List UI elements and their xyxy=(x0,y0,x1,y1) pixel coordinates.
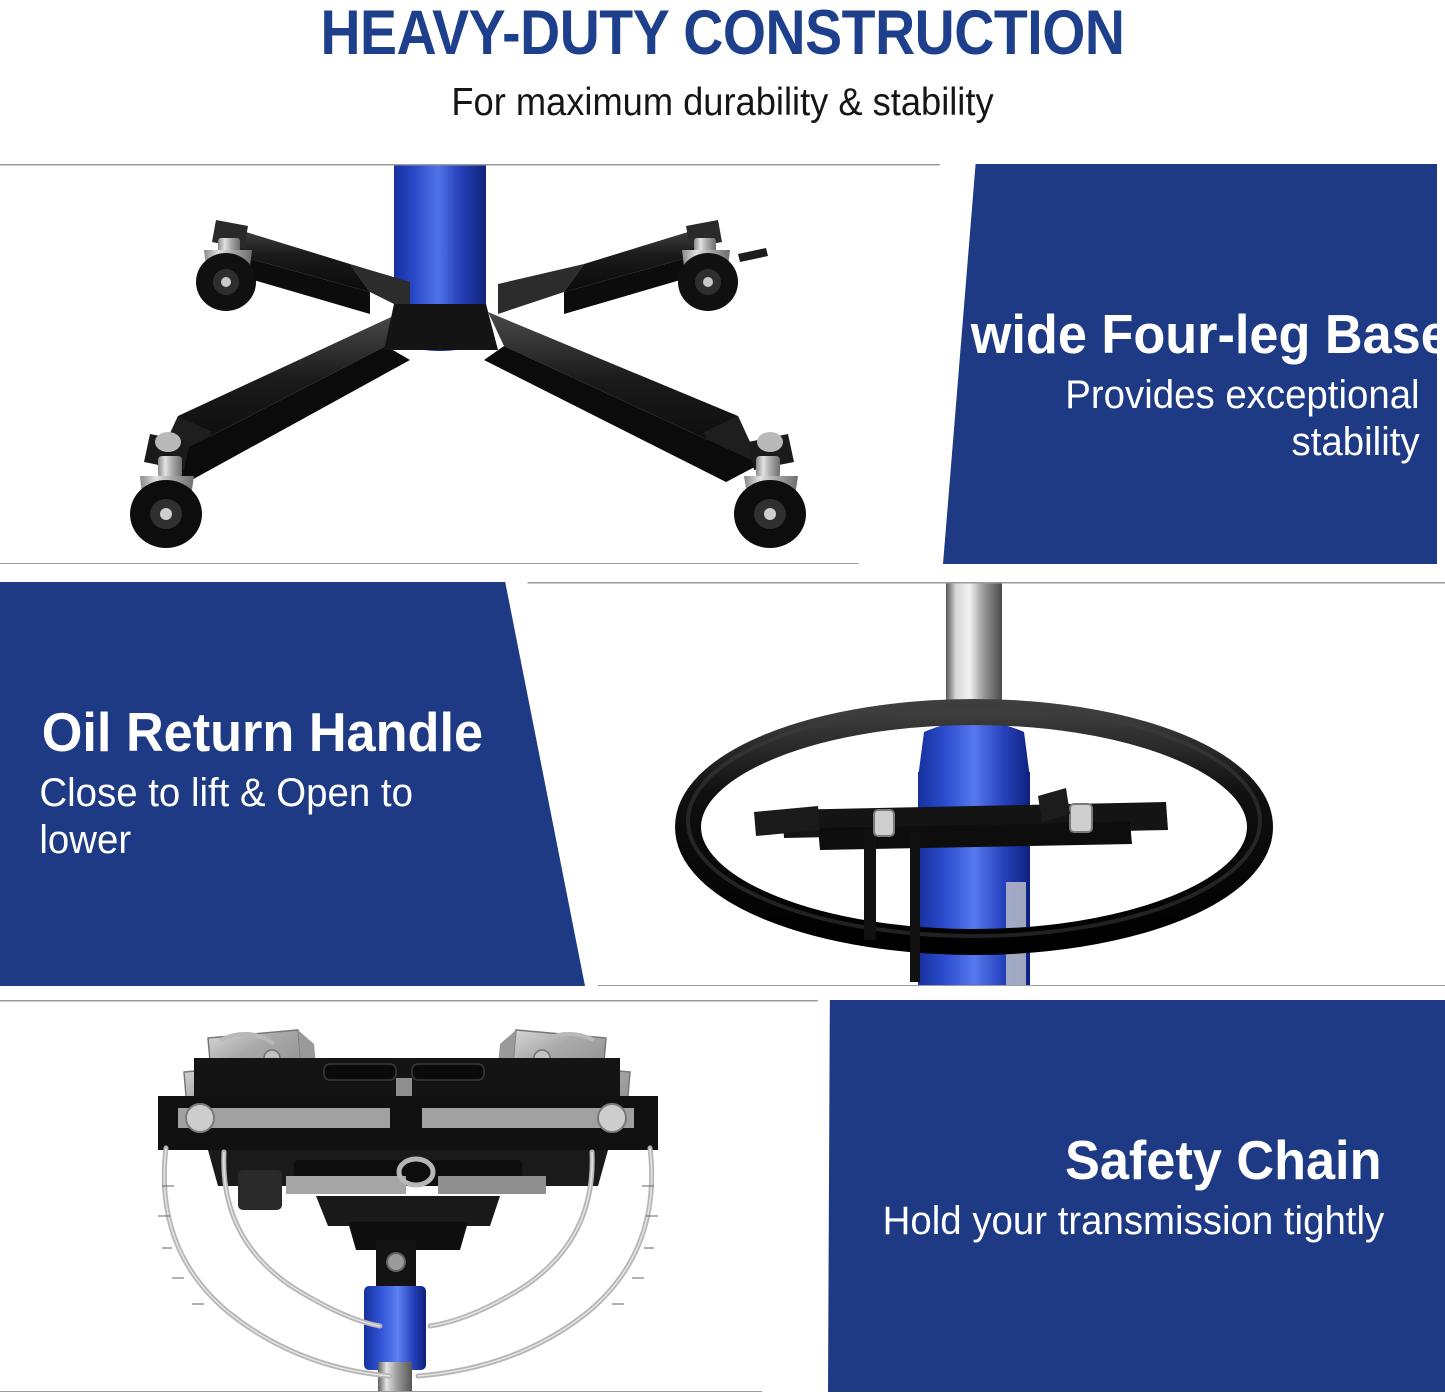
feature-caption-base: wide Four-leg Base Provides exceptional … xyxy=(943,164,1437,564)
oil-return-handle-photo xyxy=(518,582,1445,986)
feature-heading-base: wide Four-leg Base xyxy=(971,304,1418,364)
feature-description-safety-chain: Hold your transmission tightly xyxy=(866,1198,1384,1245)
page-title: HEAVY-DUTY CONSTRUCTION xyxy=(87,0,1359,68)
four-leg-base-photo xyxy=(0,164,940,564)
page-subtitle: For maximum durability & stability xyxy=(51,80,1395,126)
feature-description-base: Provides exceptional stability xyxy=(968,372,1419,466)
header-banner: HEAVY-DUTY CONSTRUCTION For maximum dura… xyxy=(0,0,1445,160)
feature-caption-oil-return: Oil Return Handle Close to lift & Open t… xyxy=(0,582,600,986)
feature-row-oil-return: Oil Return Handle Close to lift & Open t… xyxy=(0,582,1445,986)
safety-chain-photo xyxy=(0,1000,818,1392)
feature-heading-oil-return: Oil Return Handle xyxy=(42,702,489,762)
panel-border xyxy=(518,582,1445,986)
feature-row-base: wide Four-leg Base Provides exceptional … xyxy=(0,164,1445,564)
feature-heading-safety-chain: Safety Chain xyxy=(869,1130,1382,1190)
panel-border xyxy=(0,164,940,564)
feature-row-safety-chain: Safety Chain Hold your transmission tigh… xyxy=(0,1000,1445,1392)
feature-description-oil-return: Close to lift & Open to lower xyxy=(39,770,490,864)
feature-caption-safety-chain: Safety Chain Hold your transmission tigh… xyxy=(828,1000,1445,1392)
panel-border xyxy=(0,1000,818,1392)
